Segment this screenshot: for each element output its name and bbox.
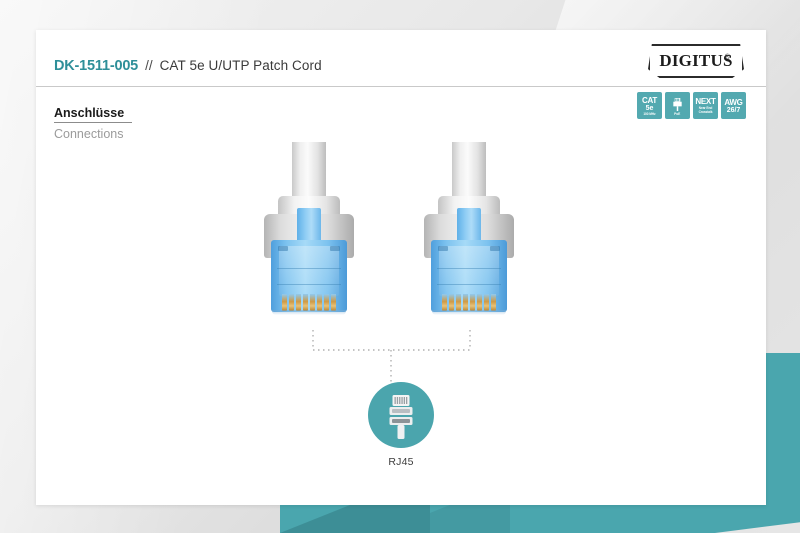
pin [289,294,294,311]
pin-shadow-left [272,310,346,315]
product-name: CAT 5e U/UTP Patch Cord [160,58,322,73]
next-badge: NEXT Near End Crosstalk [693,92,718,119]
notch-left-a [278,246,288,251]
pin [296,294,301,311]
pin [303,294,308,311]
pin [317,294,322,311]
awg-badge: AWG 26/7 [721,92,746,119]
poe-connector-icon [671,97,684,112]
slot-left-b [277,284,341,285]
section-title-de: Anschlüsse [54,106,132,123]
page-background: DIGITUS ® DK-1511-005 // CAT 5e U/UTP Pa… [0,0,800,533]
rj45-plug-right [414,142,524,342]
product-sku: DK-1511-005 [54,58,138,74]
pin [470,294,475,311]
pin [310,294,315,311]
logo-text: DIGITUS [659,51,732,71]
rj45-plug-left [254,142,364,342]
pin [282,294,287,311]
notch-right-b [490,246,500,251]
notch-right-a [438,246,448,251]
logo-registered-mark: ® [725,54,730,61]
pin [331,294,336,311]
slot-right-a [437,268,501,269]
page-title: DK-1511-005 // CAT 5e U/UTP Patch Cord [54,58,322,74]
pin [442,294,447,311]
awg-badge-sub: 26/7 [727,107,741,114]
notch-left-b [330,246,340,251]
next-badge-main: NEXT [695,98,715,106]
callout-rj45: RJ45 [364,382,438,468]
connector-inner-left [279,246,339,296]
next-badge-tiny: Near End Crosstalk [694,106,718,114]
digitus-logo: DIGITUS ® [648,44,744,78]
slot-right-b [437,284,501,285]
header-divider [36,86,766,87]
pin [484,294,489,311]
title-separator: // [145,58,153,73]
cat-badge: CAT 5e 100 MHz [637,92,662,119]
callout-circle [368,382,434,448]
section-heading: Anschlüsse Connections [54,104,132,141]
poe-badge: PoE [665,92,690,119]
pin [491,294,496,311]
connector-inner-right [439,246,499,296]
product-image [36,142,766,372]
cat-badge-sub: 5e [646,105,654,112]
pin [324,294,329,311]
poe-badge-tiny: PoE [675,112,681,116]
pin [463,294,468,311]
pin [449,294,454,311]
slot-left-a [277,268,341,269]
pin [456,294,461,311]
callout-label: RJ45 [364,456,438,468]
pin [477,294,482,311]
awg-badge-main: AWG [724,99,742,107]
pin-shadow-right [432,310,506,315]
cat-badge-tiny: 100 MHz [643,112,655,116]
feature-badges: CAT 5e 100 MHz PoE NEXT Near End Crossta… [637,92,746,119]
section-title-en: Connections [54,127,132,141]
rj45-connector-icon [368,382,434,448]
cat-badge-main: CAT [642,97,657,105]
content-card: DIGITUS ® DK-1511-005 // CAT 5e U/UTP Pa… [36,30,766,505]
